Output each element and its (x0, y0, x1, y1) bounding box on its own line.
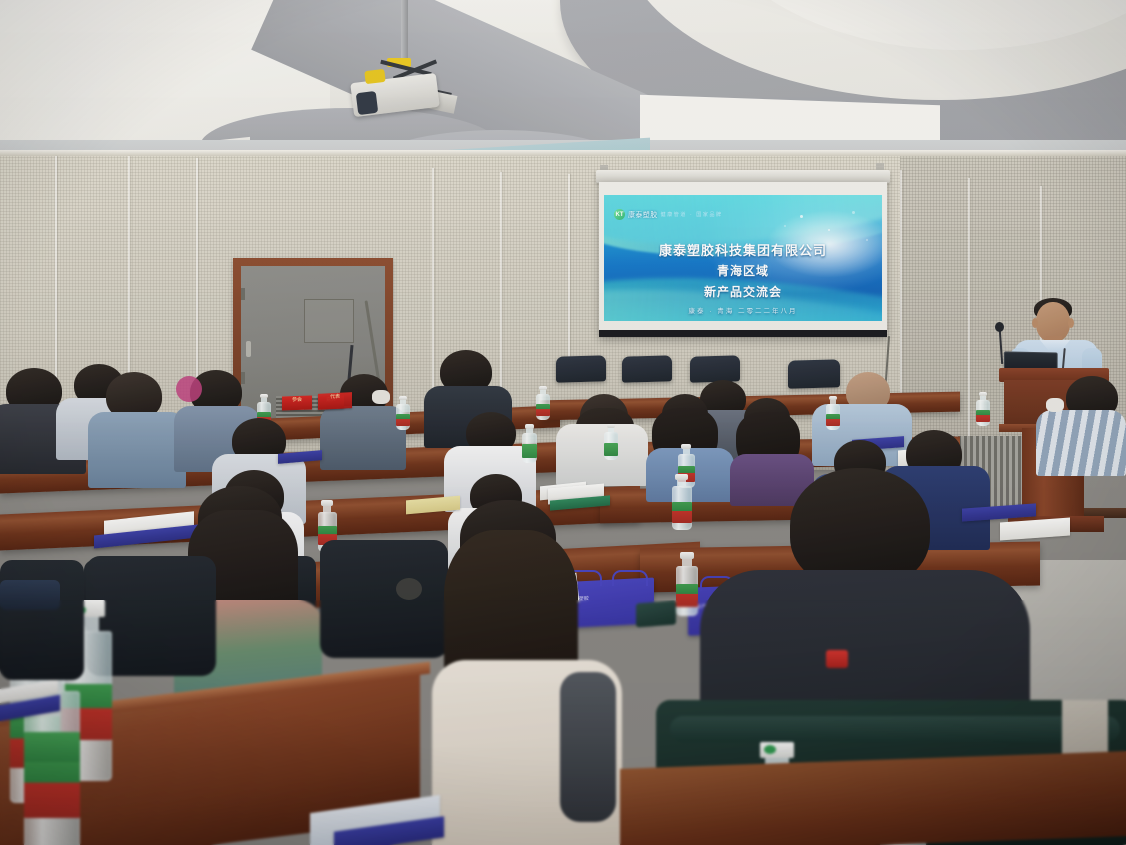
attendee-pink-cap (176, 376, 202, 402)
attendee-body (320, 406, 406, 470)
slide-bokeh-dot (828, 229, 830, 231)
slide-bokeh-dot (852, 211, 855, 214)
backpack-strap (560, 672, 616, 822)
presenter-ear (1068, 318, 1074, 328)
projector-yellow-tag (364, 69, 385, 84)
wall-panel-seam (196, 158, 198, 408)
empty-chair[interactable] (690, 355, 740, 382)
empty-chair[interactable] (622, 355, 672, 382)
name-placard: 代表 (318, 392, 352, 410)
wall-panel-seam (432, 168, 434, 408)
attendee-body (88, 412, 186, 488)
slide-date-line: 康泰 · 青海 二零二二年八月 (604, 305, 882, 315)
shirt-logo-patch (826, 650, 848, 668)
chair-back[interactable] (0, 560, 84, 680)
empty-chair[interactable] (556, 355, 606, 382)
presenter-ear (1032, 318, 1038, 328)
conference-room-photo: KT 康泰塑胶 健康管道 · 国家品牌 康泰塑胶科技集团有限公司 青海区域 新产… (0, 0, 1126, 845)
wall-panel-seam (500, 172, 502, 402)
smartphone[interactable] (636, 601, 676, 628)
presentation-slide: KT 康泰塑胶 健康管道 · 国家品牌 康泰塑胶科技集团有限公司 青海区域 新产… (604, 195, 882, 321)
slide-bokeh-dot (784, 225, 786, 227)
attendee-face-mask (372, 390, 390, 404)
wall-panel-seam (55, 156, 57, 396)
empty-chair[interactable] (788, 359, 840, 388)
door-hinge (241, 372, 245, 384)
chair-headrest (670, 716, 1120, 742)
handout-paper (1000, 518, 1070, 541)
wall-panel-seam (128, 156, 130, 401)
attendee-shoulder (0, 580, 60, 610)
slide-title-line-3: 新产品交流会 (604, 283, 882, 300)
chair-knob (396, 578, 422, 600)
name-placard: 参会 (282, 395, 312, 410)
chair-back[interactable] (320, 540, 448, 658)
foreground-desk-right (620, 751, 1126, 845)
company-logo-name: 康泰塑胶 (628, 210, 658, 220)
wall-panel-seam (568, 174, 570, 364)
attendee-body (556, 424, 648, 486)
bottle-cap-mark (764, 745, 776, 754)
company-logo-icon: KT (614, 209, 625, 220)
slide-title-line-2: 青海区域 (604, 262, 882, 279)
screen-weight-bar (599, 330, 887, 337)
name-placard-text: 参会 (282, 395, 312, 405)
slide-bokeh-dot (800, 215, 803, 218)
projector-lens (356, 91, 379, 115)
projector-mount-pole (401, 0, 408, 62)
slide-title-line-1: 康泰塑胶科技集团有限公司 (604, 240, 882, 259)
attendee-body-striped (1036, 410, 1126, 476)
company-logo-tagline: 健康管道 · 国家品牌 (661, 211, 723, 218)
slide-logo: KT 康泰塑胶 健康管道 · 国家品牌 (614, 209, 723, 220)
name-placard-text: 代表 (318, 392, 352, 403)
tote-bag-handle (612, 570, 648, 586)
door-hinge (241, 288, 245, 300)
door-handle[interactable] (246, 341, 251, 357)
attendee-face-mask (1046, 398, 1064, 412)
microphone-head-icon (995, 322, 1004, 332)
wall-panel-seam (968, 178, 970, 443)
door-inset-panel (304, 299, 354, 343)
